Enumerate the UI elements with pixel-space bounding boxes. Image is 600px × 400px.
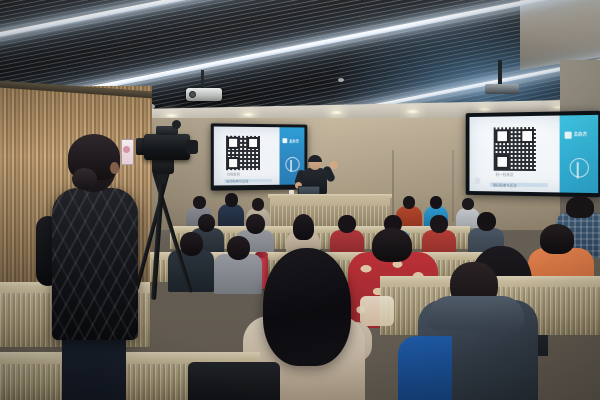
conference-hall-photo: 主办方 扫码签到 请扫码参与互动 主办方 扫一扫关注 请扫码参与互动 — [0, 0, 600, 400]
vignette-overlay — [0, 0, 600, 400]
